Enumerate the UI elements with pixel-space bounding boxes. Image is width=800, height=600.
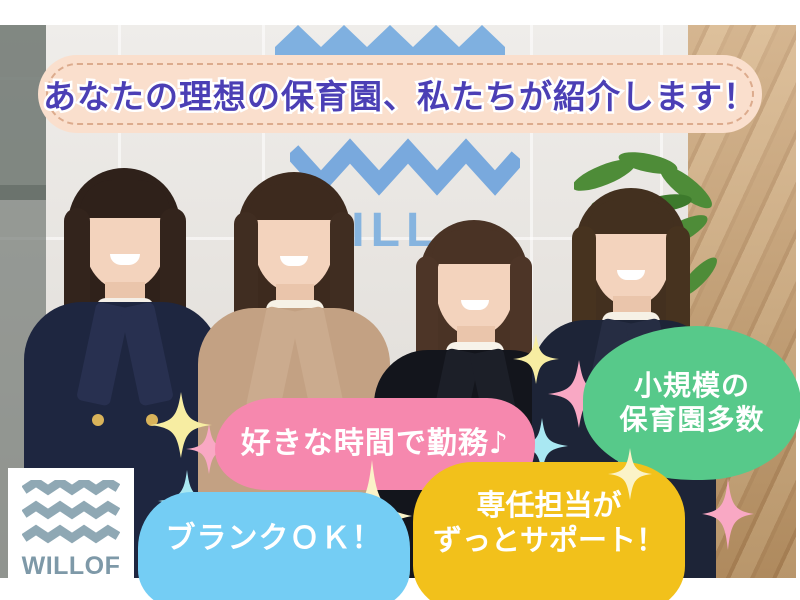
willof-logo: WILLOF xyxy=(8,468,134,594)
sparkle-pink-icon xyxy=(702,478,754,550)
bubble-pink-line-1: 好きな時間で勤務♪ xyxy=(241,426,509,463)
poster-root: WILL xyxy=(0,0,800,600)
bubble-green-line-2: 保育園多数 xyxy=(619,403,764,437)
sparkle-cream-on-yellow-icon xyxy=(608,448,652,500)
willof-wordmark: WILLOF xyxy=(8,552,134,581)
bubble-yellow-line-2: ずっとサポート！ xyxy=(433,523,665,558)
bubble-green-line-1: 小規模の xyxy=(619,369,764,403)
bubble-blank-ok[interactable]: ブランクＯＫ！ xyxy=(138,492,410,600)
headline-text: あなたの理想の保育園、私たちが紹介します！ xyxy=(38,55,762,133)
willof-zigzag-icon xyxy=(22,480,120,550)
headline-banner: あなたの理想の保育園、私たちが紹介します！ xyxy=(38,55,762,133)
bubble-blue-line-1: ブランクＯＫ！ xyxy=(166,521,383,558)
